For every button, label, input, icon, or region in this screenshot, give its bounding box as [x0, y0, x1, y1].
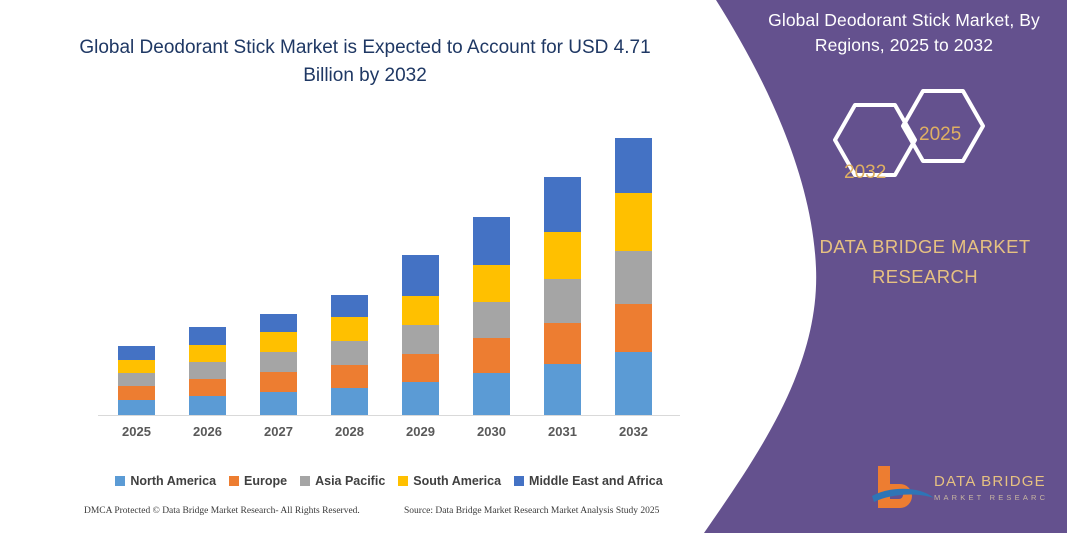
bar-segment: [260, 392, 297, 416]
bar-column: [260, 314, 297, 416]
bar-segment: [473, 338, 510, 373]
bar-segment: [189, 327, 226, 345]
chart-legend: North AmericaEuropeAsia PacificSouth Ame…: [98, 472, 680, 490]
x-axis-tick-label: 2025: [107, 424, 167, 439]
legend-label: South America: [413, 474, 501, 488]
bar-segment: [544, 177, 581, 232]
legend-label: Middle East and Africa: [529, 474, 663, 488]
legend-label: Europe: [244, 474, 287, 488]
bar-column: [118, 346, 155, 416]
brand-line-2: RESEARCH: [790, 262, 1060, 292]
legend-item[interactable]: Middle East and Africa: [514, 474, 663, 488]
legend-swatch: [300, 476, 310, 486]
bar-segment: [473, 373, 510, 416]
bar-segment: [473, 217, 510, 265]
chart-title: Global Deodorant Stick Market is Expecte…: [60, 34, 670, 90]
x-axis-tick-label: 2029: [391, 424, 451, 439]
x-axis-line: [98, 415, 680, 416]
hexagon-badges: 2025 2032: [810, 85, 1010, 205]
bar-column: [615, 138, 652, 416]
x-axis-tick-label: 2026: [178, 424, 238, 439]
bar-segment: [118, 400, 155, 416]
bar-column: [402, 255, 439, 416]
bar-segment: [473, 265, 510, 302]
x-axis-labels: 20252026202720282029203020312032: [98, 424, 680, 444]
bar-segment: [118, 386, 155, 400]
dbmr-logo: DATA BRIDGE MARKET RESEARCH: [868, 462, 1048, 508]
bar-segment: [189, 396, 226, 416]
x-axis-tick-label: 2028: [320, 424, 380, 439]
footer: DMCA Protected © Data Bridge Market Rese…: [84, 506, 684, 522]
legend-swatch: [229, 476, 239, 486]
bar-segment: [118, 346, 155, 360]
legend-label: North America: [130, 474, 216, 488]
bar-segment: [118, 360, 155, 373]
bar-segment: [189, 345, 226, 362]
legend-item[interactable]: South America: [398, 474, 501, 488]
logo-text-sub: MARKET RESEARCH: [934, 493, 1048, 502]
x-axis-tick-label: 2032: [604, 424, 664, 439]
bar-segment: [544, 232, 581, 279]
bar-segment: [331, 365, 368, 388]
bar-column: [331, 295, 368, 416]
footer-copyright: DMCA Protected © Data Bridge Market Rese…: [84, 506, 360, 516]
x-axis-tick-label: 2031: [533, 424, 593, 439]
infographic-root: Global Deodorant Stick Market, By Region…: [0, 0, 1067, 533]
bar-segment: [260, 352, 297, 372]
bar-segment: [402, 354, 439, 382]
bar-column: [473, 217, 510, 416]
bar-segment: [331, 341, 368, 365]
legend-label: Asia Pacific: [315, 474, 385, 488]
bar-segment: [544, 323, 581, 364]
bar-segment: [473, 302, 510, 338]
hexagon-label-start: 2032: [844, 162, 886, 184]
logo-text-main: DATA BRIDGE: [934, 473, 1046, 490]
panel-title: Global Deodorant Stick Market, By Region…: [748, 8, 1060, 58]
bar-segment: [331, 317, 368, 341]
bar-segment: [544, 279, 581, 323]
x-axis-tick-label: 2030: [462, 424, 522, 439]
legend-swatch: [115, 476, 125, 486]
stacked-bar-plot: [98, 120, 680, 416]
bar-segment: [402, 325, 439, 354]
bar-segment: [615, 304, 652, 352]
legend-swatch: [514, 476, 524, 486]
x-axis-tick-label: 2027: [249, 424, 309, 439]
bar-segment: [260, 372, 297, 392]
bar-segment: [615, 193, 652, 251]
bar-segment: [615, 138, 652, 193]
bar-segment: [331, 388, 368, 416]
legend-item[interactable]: Europe: [229, 474, 287, 488]
bar-column: [189, 327, 226, 416]
legend-swatch: [398, 476, 408, 486]
bar-column: [544, 177, 581, 416]
bar-segment: [118, 373, 155, 386]
legend-item[interactable]: Asia Pacific: [300, 474, 385, 488]
bar-segment: [189, 379, 226, 396]
footer-source: Source: Data Bridge Market Research Mark…: [404, 506, 659, 516]
bar-segment: [402, 255, 439, 296]
bar-segment: [402, 382, 439, 416]
legend-item[interactable]: North America: [115, 474, 216, 488]
bar-segment: [544, 364, 581, 416]
bar-segment: [331, 295, 368, 317]
hexagon-label-end: 2025: [919, 124, 961, 146]
bar-segment: [615, 251, 652, 304]
bar-segment: [260, 332, 297, 352]
brand-line-1: DATA BRIDGE MARKET: [790, 232, 1060, 262]
bar-segment: [189, 362, 226, 379]
bar-segment: [260, 314, 297, 332]
bar-segment: [402, 296, 439, 325]
logo-b-mark: [878, 466, 912, 508]
bar-segment: [615, 352, 652, 416]
brand-name: DATA BRIDGE MARKET RESEARCH: [790, 232, 1060, 292]
